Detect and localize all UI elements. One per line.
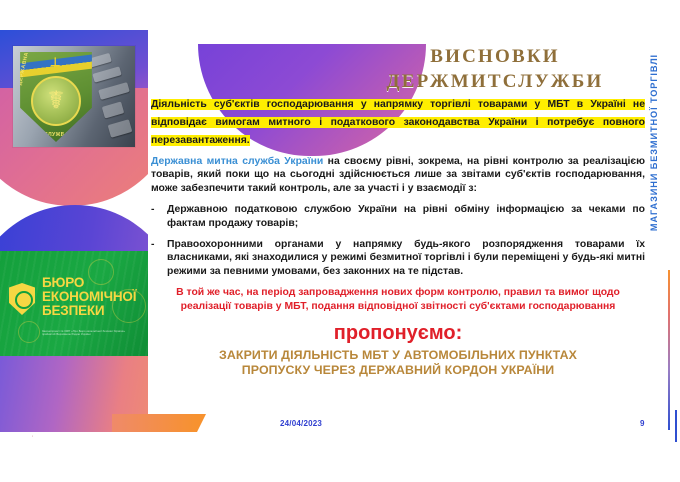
page-title-line2: ДЕРЖМИТСЛУЖБИ [352, 69, 638, 94]
emblem-ring-text: ДЕРЖАВНА ПОДАТКОВА СЛУЖБА [17, 52, 95, 142]
highlight-paragraph-wrapper: Діяльність суб'єктів господарювання у на… [151, 94, 645, 148]
vertical-section-label-text: МАГАЗИНИ БЕЗМИТНОЇ ТОРГІВЛІ [649, 54, 659, 231]
keyboard-key-decor [98, 82, 130, 100]
state-tax-service-image: ⊥ ☤ ДЕРЖАВНА ПОДАТКОВА СЛУЖБА [13, 46, 135, 147]
beb-ring-decor [18, 321, 40, 343]
emblem-ring-text-bottom: СЛУЖБА [44, 132, 69, 138]
keyboard-key-decor [102, 101, 125, 118]
white-wave-cut [0, 432, 148, 482]
list-item: - Державною податковою службою України н… [151, 203, 645, 230]
list-item: - Правоохоронними органами у напрямку бу… [151, 238, 645, 278]
propose-heading: пропонуємо: [151, 322, 645, 344]
right-edge-rule [675, 410, 677, 442]
keyboard-key-decor [108, 119, 133, 138]
beb-title-line3: БЕЗПЕКИ [42, 304, 146, 318]
bullet-text: Правоохоронними органами у напрямку будь… [167, 238, 645, 278]
page-title: ВИСНОВКИ ДЕРЖМИТСЛУЖБИ [352, 44, 638, 94]
conclusion-line2: ПРОПУСКУ ЧЕРЕЗ ДЕРЖАВНИЙ КОРДОН УКРАЇНИ [151, 363, 645, 378]
red-note-paragraph: В той же час, на період запровадження но… [151, 286, 645, 313]
beb-fine-print: Законопроект № 3087 «Про Бюро економічно… [42, 330, 138, 337]
footer-page-number: 9 [640, 419, 644, 428]
beb-title-line2: ЕКОНОМІЧНОЇ [42, 290, 146, 304]
conclusion-text: ЗАКРИТИ ДІЯЛЬНІСТЬ МБТ У АВТОМОБІЛЬНИХ П… [151, 348, 645, 378]
body-content: Діяльність суб'єктів господарювання у на… [151, 94, 645, 378]
emblem-ring-text-top: ДЕРЖАВНА ПОДАТКОВА [17, 46, 38, 86]
beb-title: БЮРО ЕКОНОМІЧНОЇ БЕЗПЕКИ [42, 276, 146, 318]
tax-service-emblem: ⊥ ☤ ДЕРЖАВНА ПОДАТКОВА СЛУЖБА [17, 52, 95, 142]
vertical-gradient-rule [668, 270, 670, 430]
highlight-paragraph: Діяльність суб'єктів господарювання у на… [151, 99, 645, 146]
keyboard-key-decor [92, 66, 121, 82]
bullet-marker: - [151, 203, 158, 230]
orange-accent-tab [112, 414, 197, 432]
bureau-economic-security-image: БЮРО ЕКОНОМІЧНОЇ БЕЗПЕКИ Законопроект № … [0, 251, 148, 356]
paragraph-accent-lead: Державна митна служба України [151, 156, 323, 167]
bullet-marker: - [151, 238, 158, 278]
paragraph-customs-service: Державна митна служба України на своєму … [151, 155, 645, 195]
conclusion-line1: ЗАКРИТИ ДІЯЛЬНІСТЬ МБТ У АВТОМОБІЛЬНИХ П… [151, 348, 645, 363]
bullet-text: Державною податковою службою України на … [167, 203, 645, 230]
tiny-artifact-mark: ' [32, 436, 33, 442]
slide-canvas: БЮРО ЕКОНОМІЧНОЇ БЕЗПЕКИ Законопроект № … [0, 0, 680, 482]
beb-shield-icon [9, 283, 35, 315]
footer-date: 24/04/2023 [280, 419, 322, 428]
vertical-section-label: МАГАЗИНИ БЕЗМИТНОЇ ТОРГІВЛІ [646, 18, 662, 268]
page-title-line1: ВИСНОВКИ [352, 44, 638, 69]
beb-title-line1: БЮРО [42, 276, 146, 290]
